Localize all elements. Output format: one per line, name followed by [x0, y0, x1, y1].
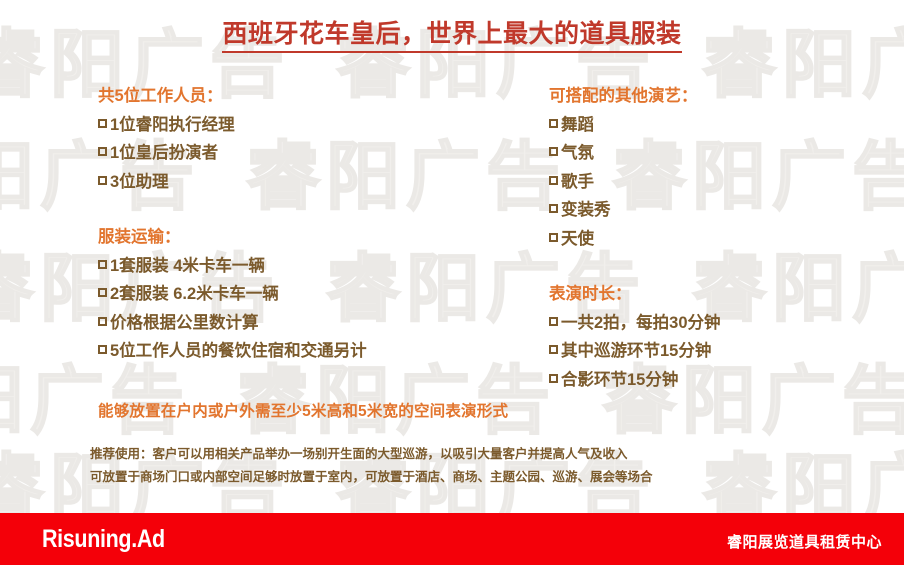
section-heading: 共5位工作人员： — [98, 82, 498, 111]
section-transport: 服装运输： 1套服装 4米卡车一辆 2套服装 6.2米卡车一辆 价格根据公里数计… — [98, 223, 498, 366]
section-other-acts: 可搭配的其他演艺： 舞蹈 气氛 歌手 变装秀 天使 — [549, 82, 879, 253]
section-heading: 表演时长： — [549, 280, 879, 309]
section-divider-space — [98, 196, 498, 223]
list-item: 2套服装 6.2米卡车一辆 — [98, 280, 498, 309]
footnote-block: 推荐使用：客户可以用相关产品举办一场别开生面的大型巡游，以吸引大量客户并提高人气… — [90, 443, 830, 489]
list-item-label: 变装秀 — [561, 201, 611, 219]
company-name: 睿阳展览道具租赁中心 — [727, 531, 882, 552]
right-column: 可搭配的其他演艺： 舞蹈 气氛 歌手 变装秀 天使 表演时长： 一共2拍，每拍3… — [549, 82, 879, 394]
footer-bar: Risuning.Ad 睿阳展览道具租赁中心 — [0, 513, 904, 565]
list-item: 变装秀 — [549, 196, 879, 225]
other-acts-list: 舞蹈 气氛 歌手 变装秀 天使 — [549, 111, 879, 254]
footnote-line-2: 可放置于商场门口或内部空间足够时放置于室内，可放置于酒店、商场、主题公园、巡游、… — [90, 466, 830, 489]
brand-logo: Risuning.Ad — [42, 525, 165, 554]
square-bullet-icon — [98, 147, 107, 156]
list-item: 价格根据公里数计算 — [98, 309, 498, 338]
square-bullet-icon — [549, 204, 558, 213]
section-duration: 表演时长： 一共2拍，每拍30分钟 其中巡游环节15分钟 合影环节15分钟 — [549, 280, 879, 394]
square-bullet-icon — [98, 176, 107, 185]
space-requirement-note: 能够放置在户内或户外需至少5米高和5米宽的空间表演形式 — [98, 399, 508, 421]
list-item: 1位睿阳执行经理 — [98, 111, 498, 140]
list-item-label: 合影环节15分钟 — [561, 371, 678, 389]
section-heading: 可搭配的其他演艺： — [549, 82, 879, 111]
section-staff: 共5位工作人员： 1位睿阳执行经理 1位皇后扮演者 3位助理 — [98, 82, 498, 196]
square-bullet-icon — [549, 317, 558, 326]
list-item: 3位助理 — [98, 168, 498, 197]
square-bullet-icon — [98, 119, 107, 128]
list-item: 一共2拍，每拍30分钟 — [549, 309, 879, 338]
slide-content: 西班牙花车皇后，世界上最大的道具服装 共5位工作人员： 1位睿阳执行经理 1位皇… — [0, 0, 904, 513]
list-item-label: 1位皇后扮演者 — [110, 144, 218, 162]
transport-list: 1套服装 4米卡车一辆 2套服装 6.2米卡车一辆 价格根据公里数计算 5位工作… — [98, 252, 498, 366]
square-bullet-icon — [549, 147, 558, 156]
staff-list: 1位睿阳执行经理 1位皇后扮演者 3位助理 — [98, 111, 498, 197]
square-bullet-icon — [549, 345, 558, 354]
square-bullet-icon — [549, 374, 558, 383]
slide-canvas: 睿阳广告睿阳广告睿阳广告 睿阳广告睿阳广告睿阳广告 睿阳广告睿阳广告睿阳广告 睿… — [0, 0, 904, 565]
list-item-label: 价格根据公里数计算 — [110, 314, 259, 332]
square-bullet-icon — [549, 233, 558, 242]
list-item: 气氛 — [549, 139, 879, 168]
list-item: 1套服装 4米卡车一辆 — [98, 252, 498, 281]
list-item: 舞蹈 — [549, 111, 879, 140]
list-item-label: 3位助理 — [110, 173, 169, 191]
left-column: 共5位工作人员： 1位睿阳执行经理 1位皇后扮演者 3位助理 服装运输： 1套服… — [98, 82, 498, 366]
square-bullet-icon — [98, 260, 107, 269]
list-item-label: 5位工作人员的餐饮住宿和交通另计 — [110, 342, 367, 360]
list-item-label: 歌手 — [561, 173, 594, 191]
list-item-label: 天使 — [561, 230, 594, 248]
duration-list: 一共2拍，每拍30分钟 其中巡游环节15分钟 合影环节15分钟 — [549, 309, 879, 395]
square-bullet-icon — [98, 288, 107, 297]
list-item-label: 其中巡游环节15分钟 — [561, 342, 711, 360]
list-item-label: 一共2拍，每拍30分钟 — [561, 314, 721, 332]
list-item-label: 1套服装 4米卡车一辆 — [110, 257, 265, 275]
list-item-label: 1位睿阳执行经理 — [110, 116, 235, 134]
section-heading: 服装运输： — [98, 223, 498, 252]
list-item: 1位皇后扮演者 — [98, 139, 498, 168]
list-item-label: 2套服装 6.2米卡车一辆 — [110, 285, 279, 303]
list-item: 合影环节15分钟 — [549, 366, 879, 395]
list-item-label: 气氛 — [561, 144, 594, 162]
square-bullet-icon — [98, 317, 107, 326]
list-item: 5位工作人员的餐饮住宿和交通另计 — [98, 337, 498, 366]
list-item: 歌手 — [549, 168, 879, 197]
footnote-line-1: 推荐使用：客户可以用相关产品举办一场别开生面的大型巡游，以吸引大量客户并提高人气… — [90, 443, 830, 466]
title-container: 西班牙花车皇后，世界上最大的道具服装 — [0, 20, 904, 53]
section-divider-space — [549, 253, 879, 280]
list-item: 其中巡游环节15分钟 — [549, 337, 879, 366]
square-bullet-icon — [549, 176, 558, 185]
square-bullet-icon — [549, 119, 558, 128]
list-item: 天使 — [549, 225, 879, 254]
list-item-label: 舞蹈 — [561, 116, 594, 134]
square-bullet-icon — [98, 345, 107, 354]
page-title: 西班牙花车皇后，世界上最大的道具服装 — [222, 20, 681, 53]
